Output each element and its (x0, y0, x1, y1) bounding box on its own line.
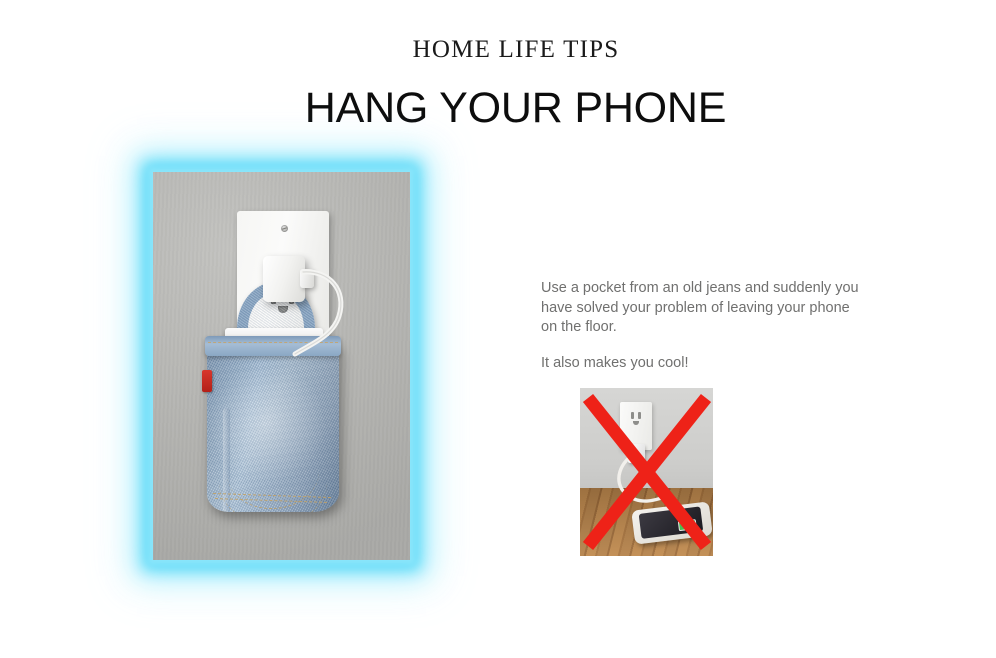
alt-outlet-slot-right (638, 412, 641, 419)
alt-usb-charger-icon (628, 444, 645, 463)
outlet-screw-icon (281, 225, 288, 232)
denim-pocket-icon (207, 284, 339, 512)
alt-outlet-slot-left (631, 412, 634, 419)
usb-charger-icon (263, 256, 305, 302)
main-photo (153, 172, 410, 560)
slide-kicker: HOME LIFE TIPS (0, 36, 996, 64)
alt-photo (580, 388, 713, 556)
body-paragraph-2: It also makes you cool! (541, 354, 861, 374)
denim-pocket-body (207, 342, 339, 512)
alt-wall-outlet-icon (620, 402, 652, 450)
main-photo-glow-frame (153, 172, 410, 560)
phone-screen (639, 506, 704, 538)
slide-canvas: HOME LIFE TIPS HANG YOUR PHONE (0, 0, 996, 658)
denim-red-brand-tab (202, 370, 212, 392)
page-title: HANG YOUR PHONE (0, 84, 996, 133)
body-copy: Use a pocket from an old jeans and sudde… (541, 279, 861, 373)
battery-charging-icon (678, 519, 697, 531)
body-paragraph-1: Use a pocket from an old jeans and sudde… (541, 279, 861, 338)
alt-outlet-ground-hole (633, 421, 639, 425)
denim-top-hem (205, 336, 341, 356)
